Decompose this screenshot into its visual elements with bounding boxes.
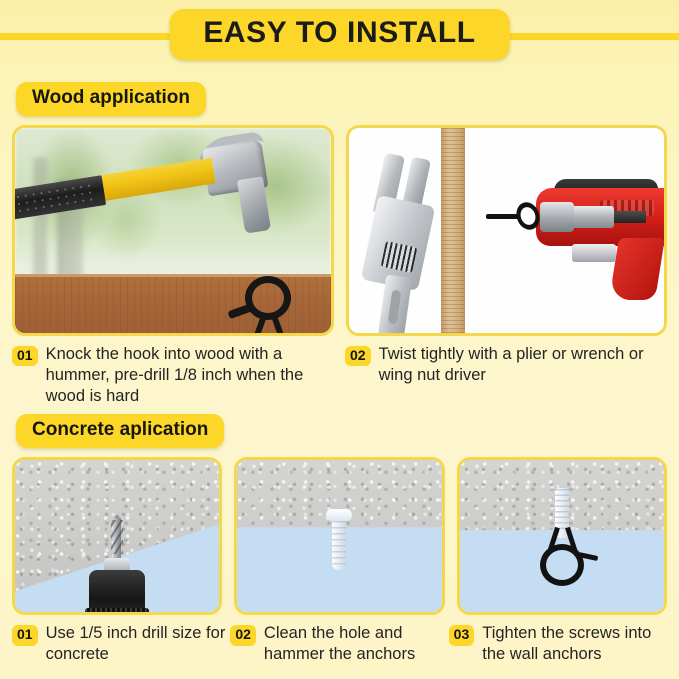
wall-anchor-ribs [332, 515, 346, 565]
step-caption-concrete-03: 03 Tighten the screws into the wall anch… [449, 623, 667, 665]
screw-hook-thread [263, 334, 274, 336]
drill-chuck-collar [85, 608, 149, 615]
concrete-section-badge-row: Concrete aplication [0, 414, 679, 448]
drill-bit-holder [572, 244, 616, 262]
wood-board-divider [441, 128, 465, 333]
screw-hook-ring [540, 544, 584, 586]
masonry-bit-flutes [111, 520, 123, 554]
step-number-badge: 01 [12, 625, 38, 646]
header: EASY TO INSTALL [0, 0, 679, 78]
step-number-badge: 01 [12, 346, 38, 367]
step-caption-wood-01: 01 Knock the hook into wood with a humme… [12, 344, 345, 406]
step-caption-text: Use 1/5 inch drill size for concrete [46, 623, 231, 665]
drill-chuck [570, 206, 614, 228]
step-number-badge: 02 [345, 346, 371, 367]
cordless-drill-icon [484, 184, 664, 304]
section-badge-wood: Wood application [16, 82, 206, 116]
step-caption-text: Knock the hook into wood with a hummer, … [46, 344, 345, 406]
step-caption-text: Clean the hole and hammer the anchors [264, 623, 449, 665]
screw-hook-ring [245, 276, 291, 320]
step-caption-text: Twist tightly with a plier or wrench or … [379, 344, 667, 386]
section-label-wood: Wood application [32, 88, 190, 108]
page-title-badge: EASY TO INSTALL [169, 9, 509, 60]
wing-nut-driver-socket [540, 202, 574, 232]
adjustable-wrench-icon [355, 152, 443, 332]
drill-bit-shank [612, 211, 646, 223]
step-number-badge: 02 [230, 625, 256, 646]
image-panel-wrench-driver [346, 125, 668, 336]
image-panel-drill-concrete [12, 457, 222, 615]
step-caption-text: Tighten the screws into the wall anchors [482, 623, 667, 665]
concrete-panel-row [0, 457, 679, 615]
drill-grip [609, 238, 665, 300]
wood-panel-row [0, 125, 679, 336]
image-panel-hammer-wood [12, 125, 334, 336]
step-caption-wood-02: 02 Twist tightly with a plier or wrench … [345, 344, 667, 406]
step-caption-concrete-01: 01 Use 1/5 inch drill size for concrete [12, 623, 230, 665]
image-panel-anchor-concrete [234, 457, 444, 615]
wall-anchor-flange [326, 509, 352, 521]
step-number-badge: 03 [449, 625, 475, 646]
concrete-caption-row: 01 Use 1/5 inch drill size for concrete … [0, 623, 679, 665]
image-panel-hook-anchor [457, 457, 667, 615]
wood-caption-row: 01 Knock the hook into wood with a humme… [0, 344, 679, 406]
section-label-concrete: Concrete aplication [32, 420, 208, 440]
step-caption-concrete-02: 02 Clean the hole and hammer the anchors [230, 623, 448, 665]
page-title: EASY TO INSTALL [203, 18, 475, 48]
tree-trunk-far-icon [33, 158, 47, 278]
wood-section-badge-row: Wood application [0, 82, 679, 116]
section-badge-concrete: Concrete aplication [16, 414, 224, 448]
hook-in-socket-stem [486, 214, 520, 219]
